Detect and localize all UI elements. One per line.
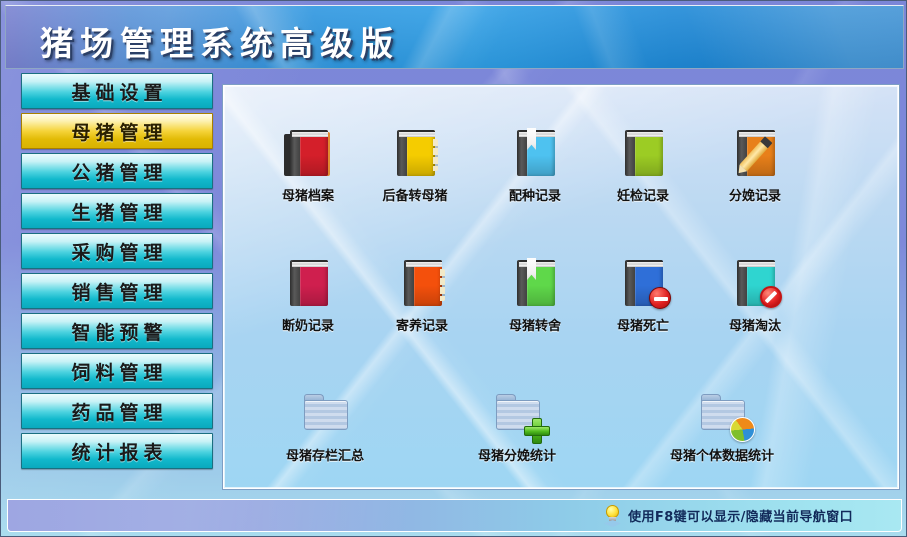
sidebar-item-label: 采购管理 [22, 234, 212, 268]
sidebar-item-boar-management[interactable]: 公猪管理 [21, 153, 213, 189]
sidebar-item-label: 母猪管理 [22, 114, 212, 148]
folder-chart-icon [694, 384, 750, 440]
icon-label: 断奶记录 [282, 315, 334, 334]
icon-sow-inventory-summary[interactable]: 母猪存栏汇总 [271, 384, 379, 464]
icon-sow-death[interactable]: 母猪死亡 [589, 254, 697, 334]
title-bar: 猪场管理系统高级版 [5, 5, 904, 69]
application-window: 猪场管理系统高级版 基础设置母猪管理公猪管理生猪管理采购管理销售管理智能预警饲料… [0, 0, 907, 537]
folder-icon [297, 384, 353, 440]
icon-sow-farrowing-stats[interactable]: 母猪分娩统计 [463, 384, 571, 464]
icon-sow-archive[interactable]: 母猪档案 [254, 124, 362, 204]
sidebar-item-smart-alert[interactable]: 智能预警 [21, 313, 213, 349]
icon-pregnancy-check-record[interactable]: 妊检记录 [589, 124, 697, 204]
icon-label: 母猪分娩统计 [478, 445, 556, 464]
pie-chart-badge-icon [730, 417, 755, 442]
sidebar-item-hog-management[interactable]: 生猪管理 [21, 193, 213, 229]
sidebar-item-label: 基础设置 [22, 74, 212, 108]
icon-weaning-record[interactable]: 断奶记录 [254, 254, 362, 334]
sidebar-item-label: 生猪管理 [22, 194, 212, 228]
icon-label: 分娩记录 [729, 185, 781, 204]
sidebar-item-label: 药品管理 [22, 394, 212, 428]
sidebar-nav: 基础设置母猪管理公猪管理生猪管理采购管理销售管理智能预警饲料管理药品管理统计报表 [7, 73, 215, 497]
icon-sow-culling[interactable]: 母猪淘汰 [701, 254, 809, 334]
icon-label: 母猪死亡 [617, 315, 669, 334]
sidebar-item-medicine-management[interactable]: 药品管理 [21, 393, 213, 429]
book-blue-stop-icon [615, 254, 671, 310]
stop-sign-icon [649, 287, 671, 309]
sidebar-item-feed-management[interactable]: 饲料管理 [21, 353, 213, 389]
sidebar-item-label: 销售管理 [22, 274, 212, 308]
icon-sow-transfer[interactable]: 母猪转舍 [481, 254, 589, 334]
icon-label: 母猪档案 [282, 185, 334, 204]
page-title: 猪场管理系统高级版 [40, 17, 400, 65]
sidebar-item-purchase-management[interactable]: 采购管理 [21, 233, 213, 269]
icon-farrowing-record[interactable]: 分娩记录 [701, 124, 809, 204]
icon-label: 配种记录 [509, 185, 561, 204]
book-green-bookmark-icon [507, 254, 563, 310]
prohibition-sign-icon [760, 286, 782, 308]
sidebar-item-basic-settings[interactable]: 基础设置 [21, 73, 213, 109]
book-blue-bookmark-icon [507, 124, 563, 180]
icon-label: 母猪转舍 [509, 315, 561, 334]
sidebar-item-label: 智能预警 [22, 314, 212, 348]
icon-fostering-record[interactable]: 寄养记录 [368, 254, 476, 334]
icon-grid: 母猪档案后备转母猪配种记录妊检记录分娩记录断奶记录寄养记录母猪转舍母猪死亡母猪淘… [224, 86, 898, 488]
book-yellow-tabs-icon [387, 124, 443, 180]
status-bar-text: 使用F8键可以显示/隐藏当前导航窗口 [628, 506, 853, 525]
icon-label: 母猪淘汰 [729, 315, 781, 334]
sidebar-item-label: 饲料管理 [22, 354, 212, 388]
status-bar: 使用F8键可以显示/隐藏当前导航窗口 [7, 499, 902, 532]
book-crimson-icon [280, 254, 336, 310]
content-panel: 母猪档案后备转母猪配种记录妊检记录分娩记录断奶记录寄养记录母猪转舍母猪死亡母猪淘… [223, 85, 899, 489]
sidebar-item-statistics-report[interactable]: 统计报表 [21, 433, 213, 469]
plus-badge-icon [524, 418, 548, 442]
icon-label: 寄养记录 [396, 315, 448, 334]
book-stack-red-icon [280, 124, 336, 180]
book-green-icon [615, 124, 671, 180]
book-teal-ban-icon [727, 254, 783, 310]
sidebar-item-label: 公猪管理 [22, 154, 212, 188]
sidebar-item-sales-management[interactable]: 销售管理 [21, 273, 213, 309]
icon-label: 母猪存栏汇总 [286, 445, 364, 464]
book-orangered-tabs-icon [394, 254, 450, 310]
lightbulb-icon [604, 505, 621, 526]
icon-gilt-to-sow[interactable]: 后备转母猪 [361, 124, 469, 204]
icon-label: 妊检记录 [617, 185, 669, 204]
sidebar-item-label: 统计报表 [22, 434, 212, 468]
icon-label: 母猪个体数据统计 [670, 445, 774, 464]
icon-label: 后备转母猪 [382, 185, 447, 204]
sidebar-item-sow-management[interactable]: 母猪管理 [21, 113, 213, 149]
book-orange-pencil-icon [727, 124, 783, 180]
folder-plus-icon [489, 384, 545, 440]
icon-mating-record[interactable]: 配种记录 [481, 124, 589, 204]
icon-sow-individual-stats[interactable]: 母猪个体数据统计 [668, 384, 776, 464]
